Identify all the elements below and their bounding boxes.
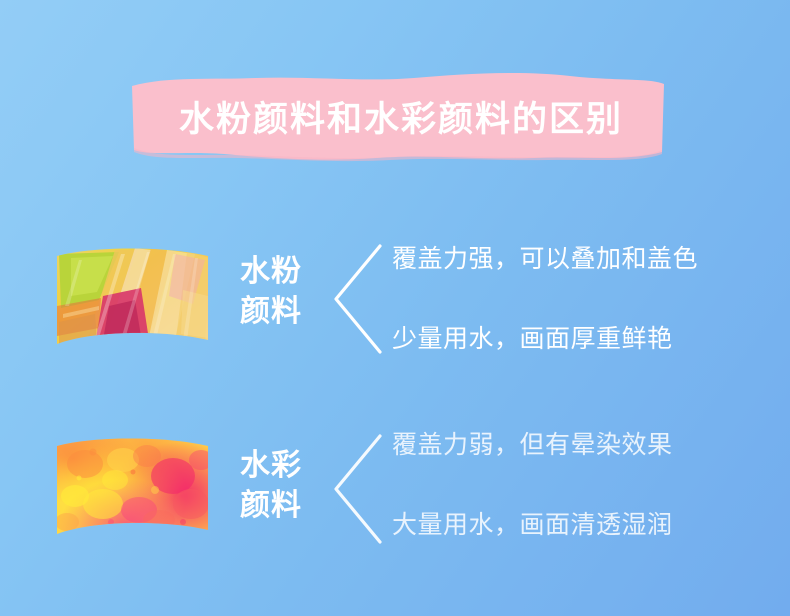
gouache-bullet-1: 覆盖力强，可以叠加和盖色 xyxy=(392,244,698,274)
section-watercolor: 水彩 颜料 覆盖力弱，但有晕染效果 大量用水，画面清透湿润 xyxy=(0,428,790,558)
gouache-bullet-2: 少量用水，画面厚重鲜艳 xyxy=(392,324,673,354)
watercolor-bullet-1: 覆盖力弱，但有晕染效果 xyxy=(392,430,673,460)
watercolor-label-line2: 颜料 xyxy=(240,486,328,526)
gouache-swatch-image xyxy=(55,244,210,356)
gouache-bracket-icon xyxy=(330,240,384,358)
title-banner: 水粉颜料和水彩颜料的区别 xyxy=(128,68,668,164)
watercolor-swatch-image xyxy=(55,434,210,546)
section-gouache: 水粉 颜料 覆盖力强，可以叠加和盖色 少量用水，画面厚重鲜艳 xyxy=(0,238,790,368)
watercolor-label-line1: 水彩 xyxy=(240,446,328,486)
gouache-bullet-list: 覆盖力强，可以叠加和盖色 少量用水，画面厚重鲜艳 xyxy=(392,238,772,364)
watercolor-bracket-icon xyxy=(330,430,384,548)
watercolor-bullet-2: 大量用水，画面清透湿润 xyxy=(392,510,673,540)
watercolor-category-label: 水彩 颜料 xyxy=(240,446,328,526)
watercolor-bullet-list: 覆盖力弱，但有晕染效果 大量用水，画面清透湿润 xyxy=(392,428,772,554)
gouache-label-line1: 水粉 xyxy=(240,252,328,292)
gouache-category-label: 水粉 颜料 xyxy=(240,252,328,332)
gouache-label-line2: 颜料 xyxy=(240,292,328,332)
infographic-root: 水粉颜料和水彩颜料的区别 xyxy=(0,0,790,616)
page-title: 水粉颜料和水彩颜料的区别 xyxy=(128,68,668,164)
